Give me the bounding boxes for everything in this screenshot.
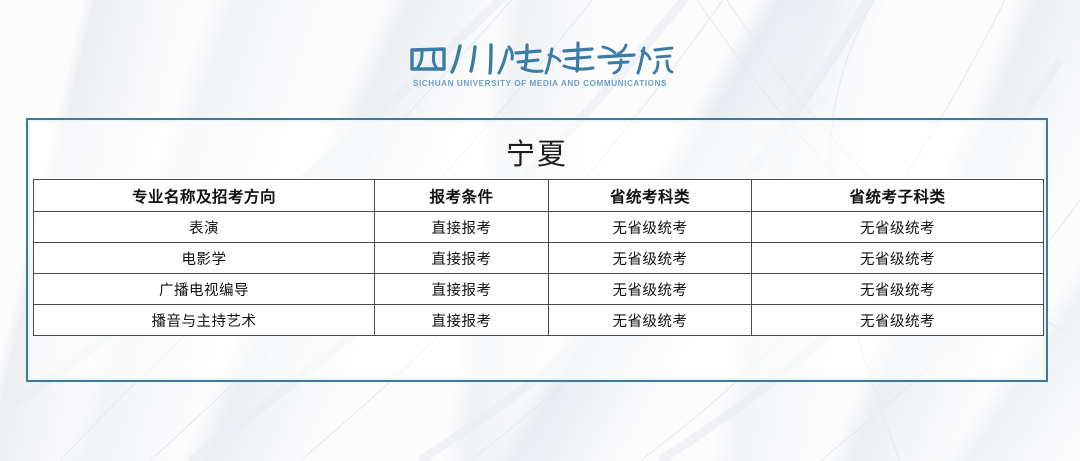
table-row: 播音与主持艺术 直接报考 无省级统考 无省级统考 [34, 305, 1044, 336]
page-title: 宁夏 [28, 120, 1046, 169]
cell-subsubject: 无省级统考 [752, 212, 1044, 243]
cell-major: 表演 [34, 212, 375, 243]
cell-subsubject: 无省级统考 [752, 243, 1044, 274]
cell-subject: 无省级统考 [549, 212, 752, 243]
cell-major: 电影学 [34, 243, 375, 274]
content-card: 宁夏 专业名称及招考方向 报考条件 省统考科类 省统考子科类 表演 [26, 118, 1048, 382]
table-body: 表演 直接报考 无省级统考 无省级统考 电影学 直接报考 无省级统考 无省级统考… [34, 212, 1044, 336]
cell-condition: 直接报考 [375, 243, 549, 274]
sichuan-university-logo-icon [406, 38, 674, 78]
table-header-row: 专业名称及招考方向 报考条件 省统考科类 省统考子科类 [34, 180, 1044, 212]
column-header-major: 专业名称及招考方向 [34, 180, 375, 212]
cell-condition: 直接报考 [375, 212, 549, 243]
university-logo: SICHUAN UNIVERSITY OF MEDIA AND COMMUNIC… [0, 38, 1080, 88]
university-logo-english-name: SICHUAN UNIVERSITY OF MEDIA AND COMMUNIC… [0, 79, 1080, 88]
cell-condition: 直接报考 [375, 274, 549, 305]
table-row: 广播电视编导 直接报考 无省级统考 无省级统考 [34, 274, 1044, 305]
cell-subject: 无省级统考 [549, 243, 752, 274]
cell-subsubject: 无省级统考 [752, 274, 1044, 305]
table-header: 专业名称及招考方向 报考条件 省统考科类 省统考子科类 [34, 180, 1044, 212]
cell-subject: 无省级统考 [549, 274, 752, 305]
cell-subsubject: 无省级统考 [752, 305, 1044, 336]
cell-condition: 直接报考 [375, 305, 549, 336]
column-header-subject: 省统考科类 [549, 180, 752, 212]
cell-major: 播音与主持艺术 [34, 305, 375, 336]
column-header-subsubject: 省统考子科类 [752, 180, 1044, 212]
majors-table: 专业名称及招考方向 报考条件 省统考科类 省统考子科类 表演 直接报考 无省级统… [33, 179, 1044, 336]
table-row: 表演 直接报考 无省级统考 无省级统考 [34, 212, 1044, 243]
cell-subject: 无省级统考 [549, 305, 752, 336]
column-header-condition: 报考条件 [375, 180, 549, 212]
table-row: 电影学 直接报考 无省级统考 无省级统考 [34, 243, 1044, 274]
majors-table-wrapper: 专业名称及招考方向 报考条件 省统考科类 省统考子科类 表演 直接报考 无省级统… [33, 179, 1043, 336]
cell-major: 广播电视编导 [34, 274, 375, 305]
